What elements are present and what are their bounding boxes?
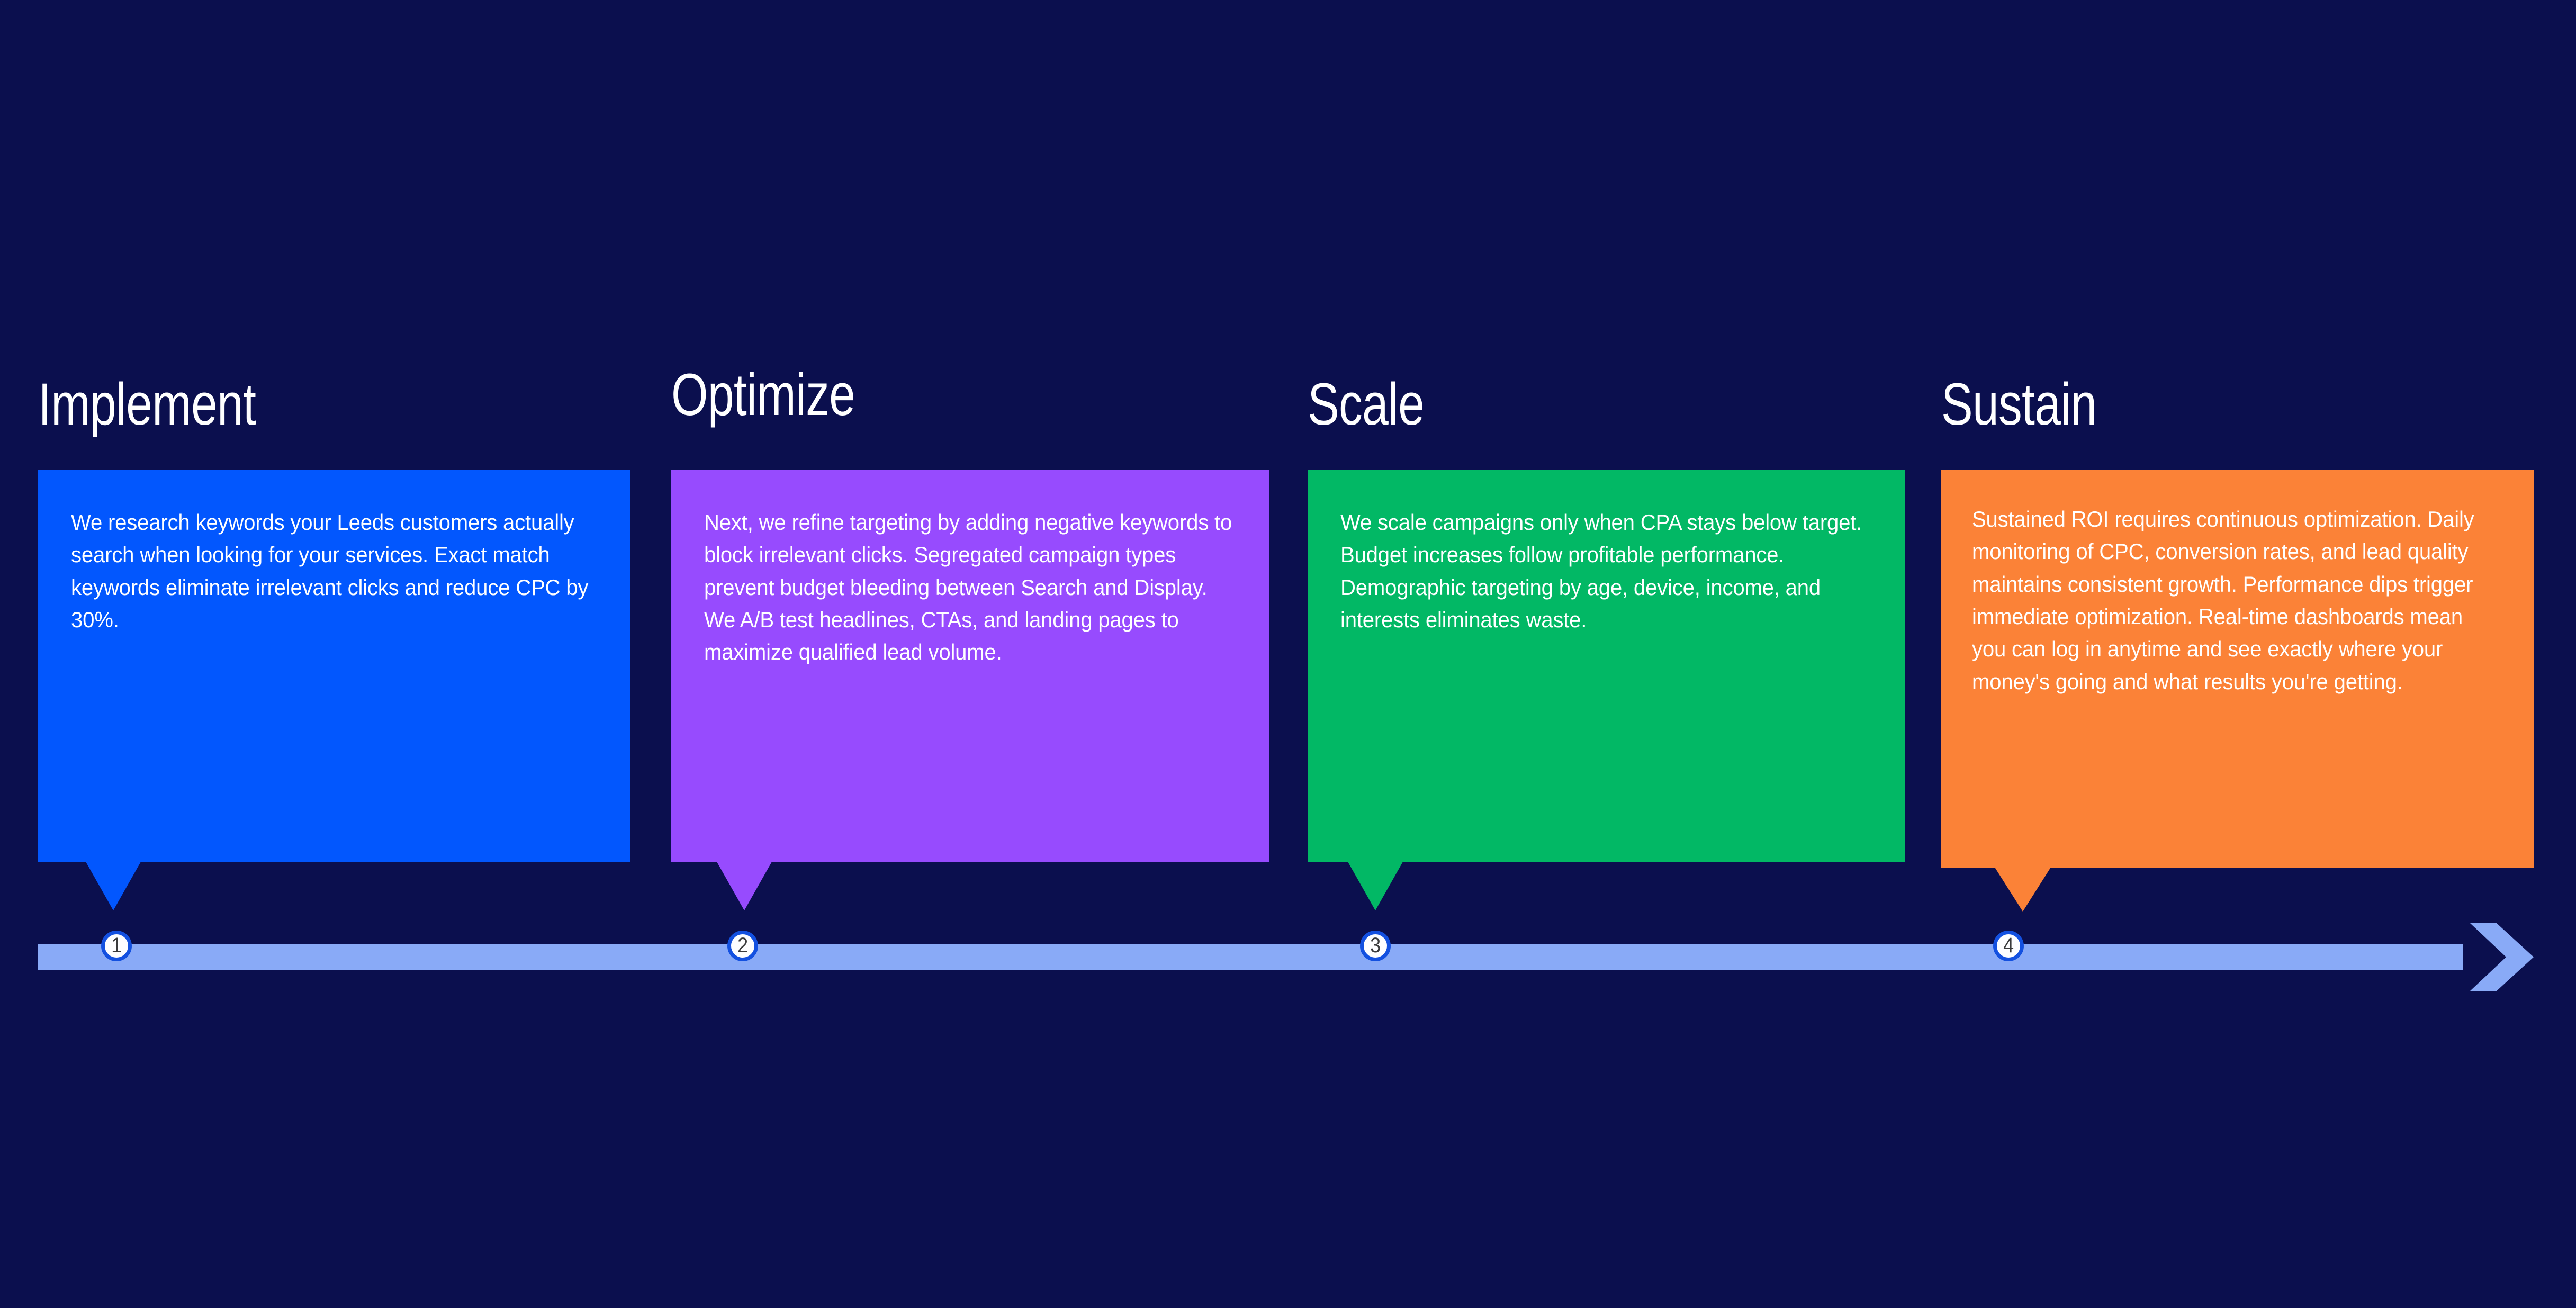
timeline-marker-3-label: 3 bbox=[1370, 935, 1381, 956]
timeline-marker-3[interactable]: 3 bbox=[1360, 931, 1391, 961]
timeline-marker-4[interactable]: 4 bbox=[1993, 931, 2024, 961]
timeline-marker-2-label: 2 bbox=[737, 935, 748, 956]
step-1-card: We research keywords your Leeds customer… bbox=[38, 470, 630, 862]
step-4-heading: Sustain bbox=[1941, 375, 2096, 434]
step-3-heading: Scale bbox=[1308, 375, 1424, 434]
step-2-card: Next, we refine targeting by adding nega… bbox=[671, 470, 1269, 862]
step-2-card-text: Next, we refine targeting by adding nega… bbox=[704, 506, 1234, 669]
step-2-heading: Optimize bbox=[671, 365, 855, 425]
step-1-pointer bbox=[86, 862, 141, 910]
step-4-pointer bbox=[1995, 868, 2050, 912]
step-3-card-text: We scale campaigns only when CPA stays b… bbox=[1340, 506, 1869, 636]
timeline-step-3: Scale We scale campaigns only when CPA s… bbox=[1308, 0, 1905, 1308]
step-3-card: We scale campaigns only when CPA stays b… bbox=[1308, 470, 1905, 862]
timeline-step-2: Optimize Next, we refine targeting by ad… bbox=[671, 0, 1269, 1308]
timeline-arrow-head-icon bbox=[2466, 921, 2538, 993]
timeline-axis: 1 2 3 4 bbox=[38, 944, 2538, 970]
step-3-pointer bbox=[1348, 862, 1403, 910]
timeline-marker-1[interactable]: 1 bbox=[101, 931, 132, 961]
step-1-card-text: We research keywords your Leeds customer… bbox=[71, 506, 595, 636]
timeline-bar bbox=[38, 944, 2463, 970]
timeline-marker-4-label: 4 bbox=[2003, 935, 2014, 956]
step-4-card: Sustained ROI requires continuous optimi… bbox=[1941, 470, 2534, 868]
process-timeline-infographic: Implement We research keywords your Leed… bbox=[0, 0, 2576, 1308]
step-1-heading: Implement bbox=[38, 375, 256, 434]
timeline-step-1: Implement We research keywords your Leed… bbox=[38, 0, 630, 1308]
step-2-pointer bbox=[717, 862, 772, 910]
step-4-card-text: Sustained ROI requires continuous optimi… bbox=[1972, 503, 2500, 698]
timeline-marker-2[interactable]: 2 bbox=[727, 931, 758, 961]
timeline-step-4: Sustain Sustained ROI requires continuou… bbox=[1941, 0, 2534, 1308]
timeline-marker-1-label: 1 bbox=[111, 935, 122, 956]
